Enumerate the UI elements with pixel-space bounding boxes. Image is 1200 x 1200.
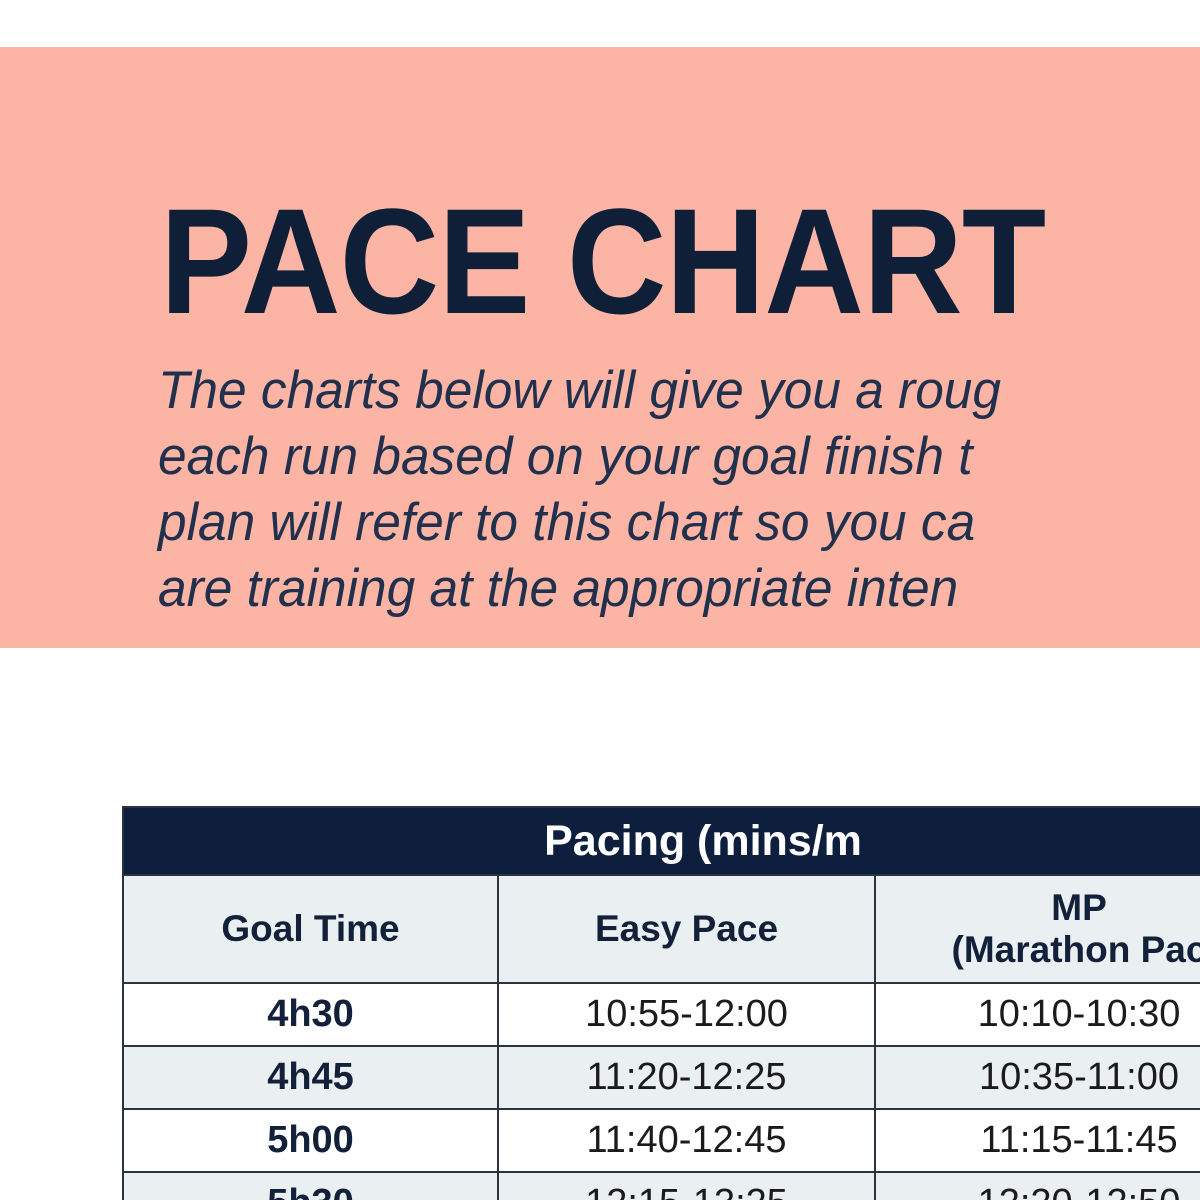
column-header-goal-time: Goal Time [123, 875, 498, 983]
intro-paragraph-line-1: The charts below will give you a roug [158, 358, 1200, 424]
cell-goal-time: 5h30 [123, 1172, 498, 1200]
cell-easy-pace: 11:20-12:25 [498, 1046, 875, 1109]
table-row: 5h30 12:15-13:25 12:20-12:50 [123, 1172, 1200, 1200]
pace-chart-page: PACE CHART The charts below will give yo… [0, 0, 1200, 1200]
cell-easy-pace: 11:40-12:45 [498, 1109, 875, 1172]
cell-mp: 12:20-12:50 [875, 1172, 1200, 1200]
pace-table-container: Pacing (mins/m Goal Time Easy Pace MP (M… [122, 806, 1200, 1200]
cell-mp: 10:35-11:00 [875, 1046, 1200, 1109]
intro-paragraph-line-2: each run based on your goal finish t [158, 424, 1200, 490]
intro-paragraph-line-4: are training at the appropriate inten [158, 556, 1200, 622]
cell-goal-time: 4h30 [123, 983, 498, 1046]
table-row: 4h45 11:20-12:25 10:35-11:00 [123, 1046, 1200, 1109]
pacing-banner-label: Pacing (mins/m [123, 807, 1200, 875]
cell-mp: 11:15-11:45 [875, 1109, 1200, 1172]
table-row: 4h30 10:55-12:00 10:10-10:30 [123, 983, 1200, 1046]
cell-easy-pace: 10:55-12:00 [498, 983, 875, 1046]
column-header-easy-pace: Easy Pace [498, 875, 875, 983]
hero-banner: PACE CHART The charts below will give yo… [0, 47, 1200, 648]
column-header-mp-label-line-2: (Marathon Pac [876, 929, 1200, 971]
column-header-goal-time-label: Goal Time [124, 908, 497, 950]
column-header-easy-pace-label: Easy Pace [499, 908, 874, 950]
table-header-row: Goal Time Easy Pace MP (Marathon Pac [123, 875, 1200, 983]
cell-goal-time: 4h45 [123, 1046, 498, 1109]
column-header-mp: MP (Marathon Pac [875, 875, 1200, 983]
intro-paragraph: The charts below will give you a roug ea… [158, 358, 1200, 622]
table-banner-row: Pacing (mins/m [123, 807, 1200, 875]
page-title: PACE CHART [160, 186, 1045, 336]
column-header-mp-label-line-1: MP [876, 887, 1200, 929]
cell-goal-time: 5h00 [123, 1109, 498, 1172]
pace-table: Pacing (mins/m Goal Time Easy Pace MP (M… [122, 806, 1200, 1200]
intro-paragraph-line-3: plan will refer to this chart so you ca [158, 490, 1200, 556]
cell-mp: 10:10-10:30 [875, 983, 1200, 1046]
table-row: 5h00 11:40-12:45 11:15-11:45 [123, 1109, 1200, 1172]
cell-easy-pace: 12:15-13:25 [498, 1172, 875, 1200]
